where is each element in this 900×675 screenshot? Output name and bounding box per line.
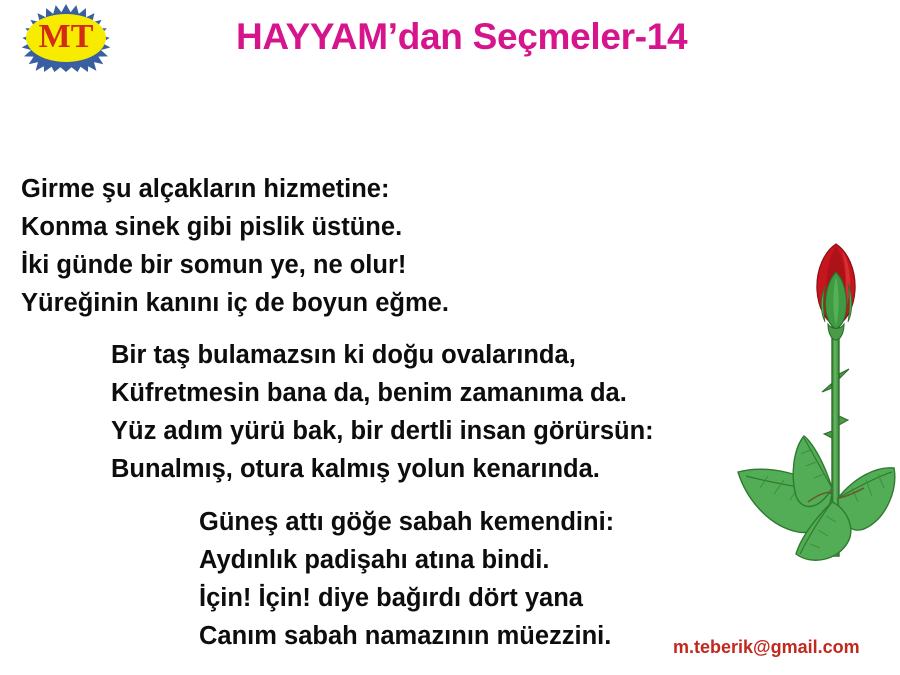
poem-line: Girme şu alçakların hizmetine:	[21, 170, 449, 208]
rose-icon	[720, 226, 900, 576]
poem-line: Güneş attı göğe sabah kemendini:	[199, 503, 614, 541]
poem-stanza-1: Girme şu alçakların hizmetine: Konma sin…	[21, 170, 449, 322]
contact-email: m.teberik@gmail.com	[673, 637, 860, 658]
poem-line: Küfretmesin bana da, benim zamanıma da.	[111, 374, 654, 412]
poem-line: İki günde bir somun ye, ne olur!	[21, 246, 449, 284]
poem-stanza-2: Bir taş bulamazsın ki doğu ovalarında, K…	[111, 336, 654, 488]
poem-line: Yüreğinin kanını iç de boyun eğme.	[21, 284, 449, 322]
slide-canvas: MT HAYYAM’dan Seçmeler-14 Girme şu alçak…	[0, 0, 900, 675]
page-title: HAYYAM’dan Seçmeler-14	[236, 16, 687, 58]
poem-stanza-3: Güneş attı göğe sabah kemendini: Aydınlı…	[199, 503, 614, 655]
poem-line: İçin! İçin! diye bağırdı dört yana	[199, 579, 614, 617]
logo-label: MT	[6, 4, 126, 72]
rose-illustration	[720, 226, 900, 576]
poem-line: Bir taş bulamazsın ki doğu ovalarında,	[111, 336, 654, 374]
poem-line: Canım sabah namazının müezzini.	[199, 617, 614, 655]
mt-logo: MT	[6, 4, 126, 72]
poem-line: Konma sinek gibi pislik üstüne.	[21, 208, 449, 246]
poem-line: Aydınlık padişahı atına bindi.	[199, 541, 614, 579]
poem-line: Bunalmış, otura kalmış yolun kenarında.	[111, 450, 654, 488]
poem-line: Yüz adım yürü bak, bir dertli insan görü…	[111, 412, 654, 450]
